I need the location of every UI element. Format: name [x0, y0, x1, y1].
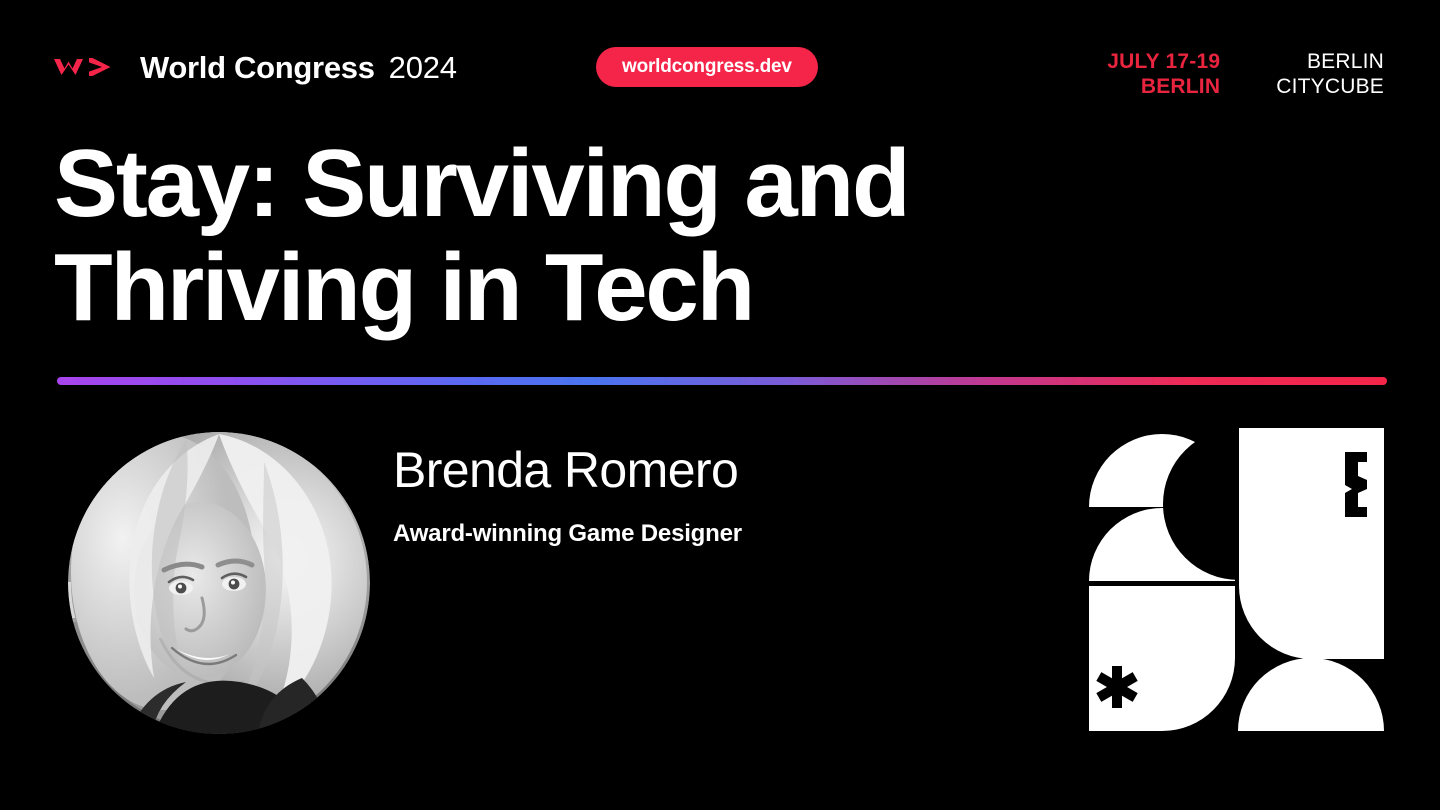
speaker-slide: World Congress 2024 worldcongress.dev JU… [0, 0, 1440, 810]
world-congress-chevron-logo-icon [52, 54, 124, 80]
brand-name: World Congress [140, 52, 375, 83]
event-date-line-1: JULY 17-19 [1107, 50, 1220, 75]
brand-lockup: World Congress 2024 [52, 45, 457, 89]
speaker-portrait-photo-icon [68, 432, 370, 734]
event-venue-line-2: CITYCUBE [1276, 75, 1384, 100]
speaker-name: Brenda Romero [393, 443, 1033, 498]
brand-year: 2024 [389, 52, 457, 83]
header-meta: JULY 17-19 BERLIN BERLIN CITYCUBE [1107, 50, 1384, 100]
gradient-divider [57, 377, 1387, 385]
event-date-block: JULY 17-19 BERLIN [1107, 50, 1220, 100]
slide-header: World Congress 2024 worldcongress.dev JU… [0, 0, 1440, 130]
speaker-avatar [68, 432, 370, 734]
talk-title: Stay: Surviving and Thriving in Tech [54, 132, 1174, 339]
abstract-geometric-mark-icon [1087, 426, 1387, 736]
event-url-label: worldcongress.dev [622, 56, 792, 78]
event-venue-line-1: BERLIN [1276, 50, 1384, 75]
event-venue-block: BERLIN CITYCUBE [1276, 50, 1384, 100]
speaker-role: Award-winning Game Designer [393, 520, 1033, 549]
abstract-geometric-mark [1087, 426, 1387, 736]
speaker-details: Brenda Romero Award-winning Game Designe… [393, 443, 1033, 549]
event-date-line-2: BERLIN [1107, 75, 1220, 100]
event-url-pill[interactable]: worldcongress.dev [596, 47, 818, 87]
